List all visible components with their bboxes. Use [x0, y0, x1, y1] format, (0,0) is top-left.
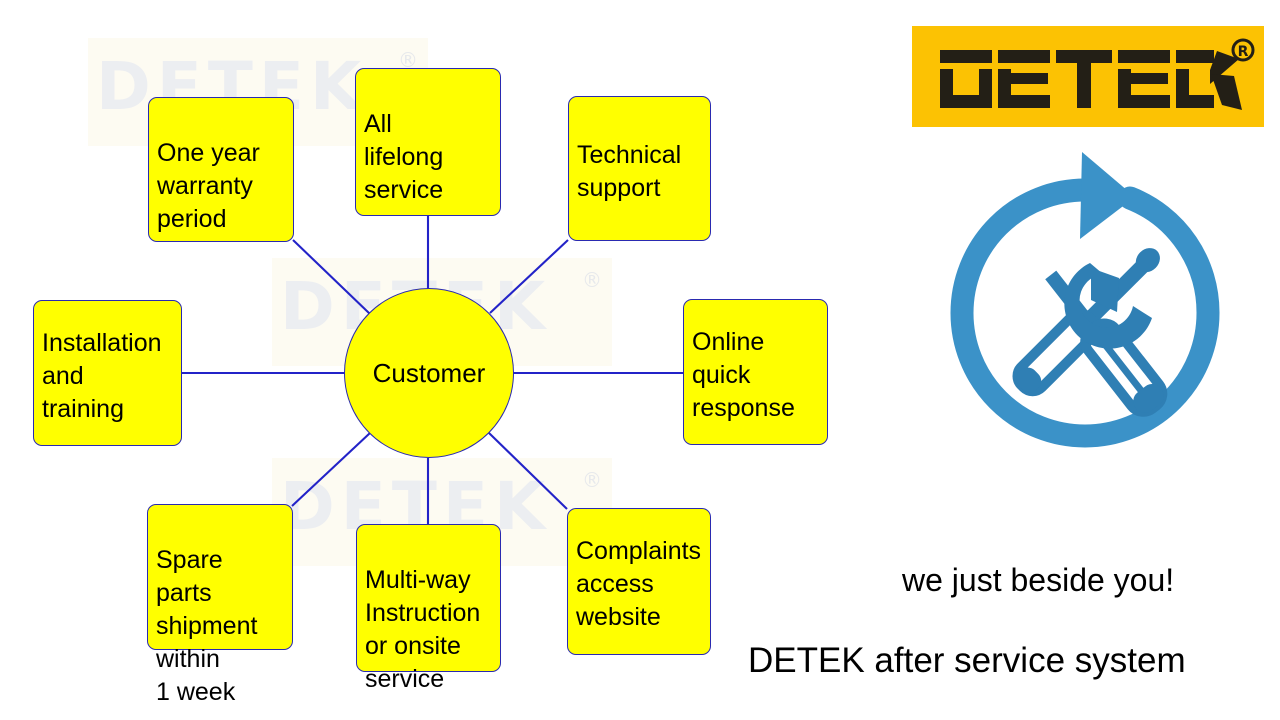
node-installation-training[interactable]: Installation and training [33, 300, 182, 446]
connector-spare-parts-shipment [292, 433, 370, 506]
node-label: One year warranty period [157, 139, 260, 233]
node-technical-support[interactable]: Technical support [568, 96, 711, 241]
node-label: Installation and training [42, 327, 162, 426]
node-online-quick-response[interactable]: Online quick response [683, 299, 828, 445]
connector-technical-support [490, 240, 568, 313]
system-name-text: DETEK after service system [748, 641, 1186, 681]
connector-complaints-website [489, 433, 567, 509]
node-multiway-instruction[interactable]: Multi-way Instruction or onsite service [356, 524, 501, 672]
node-label: Technical support [577, 139, 681, 205]
node-spare-parts-shipment[interactable]: Spare parts shipment within 1 week [147, 504, 293, 650]
node-label: Online quick response [692, 326, 795, 425]
slide-canvas: DETEK ® DETEK ® DETEK ® Customer One yea… [0, 0, 1280, 720]
hub-customer[interactable]: Customer [344, 288, 514, 458]
service-tools-circular-arrow-icon [930, 138, 1240, 510]
tagline-text: we just beside you! [902, 562, 1174, 599]
hub-label: Customer [373, 358, 486, 389]
node-all-lifelong-service[interactable]: All lifelong service [355, 68, 501, 216]
node-complaints-website[interactable]: Complaints access website [567, 508, 711, 655]
detek-logo: R [912, 26, 1264, 127]
connector-one-year-warranty [293, 240, 370, 314]
node-one-year-warranty[interactable]: One year warranty period [148, 97, 294, 242]
detek-logo-wordmark-icon: R [912, 26, 1264, 127]
node-label: Complaints access website [576, 535, 701, 634]
node-label: All lifelong service [364, 110, 443, 204]
svg-text:R: R [1238, 44, 1249, 60]
